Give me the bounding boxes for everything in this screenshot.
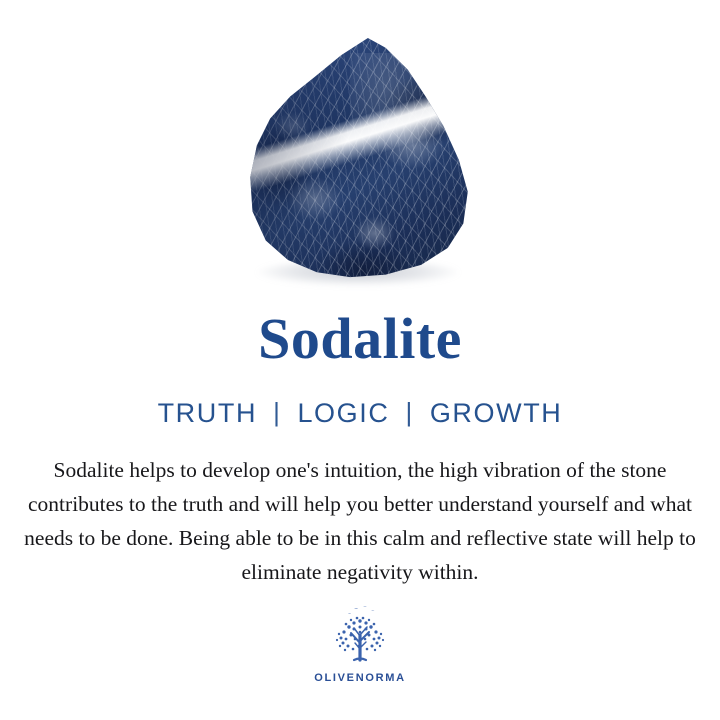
keyword-separator: | [273,397,281,428]
stone-left-facet [248,38,355,282]
page-title: Sodalite [258,310,462,368]
keyword-separator: | [405,397,413,428]
brand-name: OLIVENORMA [314,672,406,684]
tree-icon [324,605,396,670]
sodalite-info-card: Sodalite TRUTH | LOGIC | GROWTH Sodalite… [0,0,720,720]
keyword-growth: GROWTH [430,398,563,429]
stone-image-area [0,0,720,292]
stone-description: Sodalite helps to develop one's intuitio… [15,453,705,589]
stone-highlight [350,53,439,165]
keyword-row: TRUTH | LOGIC | GROWTH [158,398,563,429]
keyword-truth: TRUTH [158,398,257,429]
sodalite-crystal-image [248,38,470,282]
keyword-logic: LOGIC [297,398,389,429]
stone-body [248,38,470,282]
brand-logo: OLIVENORMA [314,605,406,684]
